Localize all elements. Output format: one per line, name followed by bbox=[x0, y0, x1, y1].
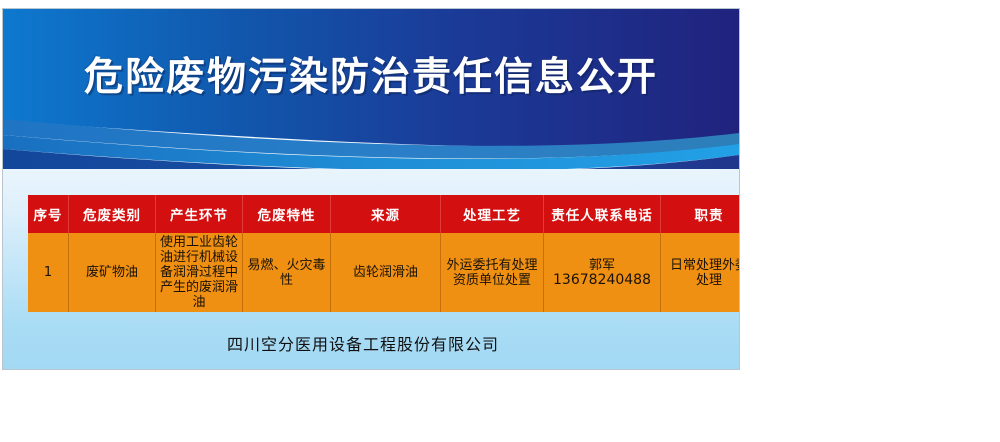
table-row: 1 废矿物油 使用工业齿轮油进行机械设备润滑过程中产生的废润滑油 易燃、火灾毒性… bbox=[28, 233, 740, 312]
cell-characteristics: 易燃、火灾毒性 bbox=[243, 233, 331, 312]
cell-contact: 郭军 13678240488 bbox=[544, 233, 661, 312]
table-header-row: 序号 危废类别 产生环节 危废特性 来源 处理工艺 责任人联系电话 职责 bbox=[28, 195, 740, 233]
column-header-characteristics: 危废特性 bbox=[243, 195, 331, 233]
column-header-process: 处理工艺 bbox=[441, 195, 544, 233]
cell-stage: 使用工业齿轮油进行机械设备润滑过程中产生的废润滑油 bbox=[156, 233, 243, 312]
hazardous-waste-table-wrapper: 序号 危废类别 产生环节 危废特性 来源 处理工艺 责任人联系电话 职责 1 废… bbox=[28, 195, 718, 312]
column-header-contact: 责任人联系电话 bbox=[544, 195, 661, 233]
hazardous-waste-table: 序号 危废类别 产生环节 危废特性 来源 处理工艺 责任人联系电话 职责 1 废… bbox=[28, 195, 740, 312]
cell-index: 1 bbox=[28, 233, 69, 312]
column-header-category: 危废类别 bbox=[69, 195, 156, 233]
cell-source: 齿轮润滑油 bbox=[331, 233, 441, 312]
banner-artwork bbox=[3, 9, 739, 169]
company-name-line: 四川空分医用设备工程股份有限公司 bbox=[3, 331, 739, 355]
column-header-source: 来源 bbox=[331, 195, 441, 233]
contact-phone: 13678240488 bbox=[547, 273, 657, 288]
information-disclosure-poster: 危险废物污染防治责任信息公开 序号 危废类别 产生环节 危废特性 来源 处理工艺… bbox=[2, 8, 740, 370]
cell-category: 废矿物油 bbox=[69, 233, 156, 312]
cell-process: 外运委托有处理资质单位处置 bbox=[441, 233, 544, 312]
cell-duty: 日常处理外委处理 bbox=[661, 233, 741, 312]
column-header-stage: 产生环节 bbox=[156, 195, 243, 233]
contact-name: 郭军 bbox=[547, 258, 657, 273]
poster-canvas: 危险废物污染防治责任信息公开 序号 危废类别 产生环节 危废特性 来源 处理工艺… bbox=[0, 0, 1000, 442]
company-name-text: 四川空分医用设备工程股份有限公司 bbox=[227, 335, 499, 354]
poster-banner: 危险废物污染防治责任信息公开 bbox=[3, 9, 739, 169]
column-header-index: 序号 bbox=[28, 195, 69, 233]
column-header-duty: 职责 bbox=[661, 195, 741, 233]
